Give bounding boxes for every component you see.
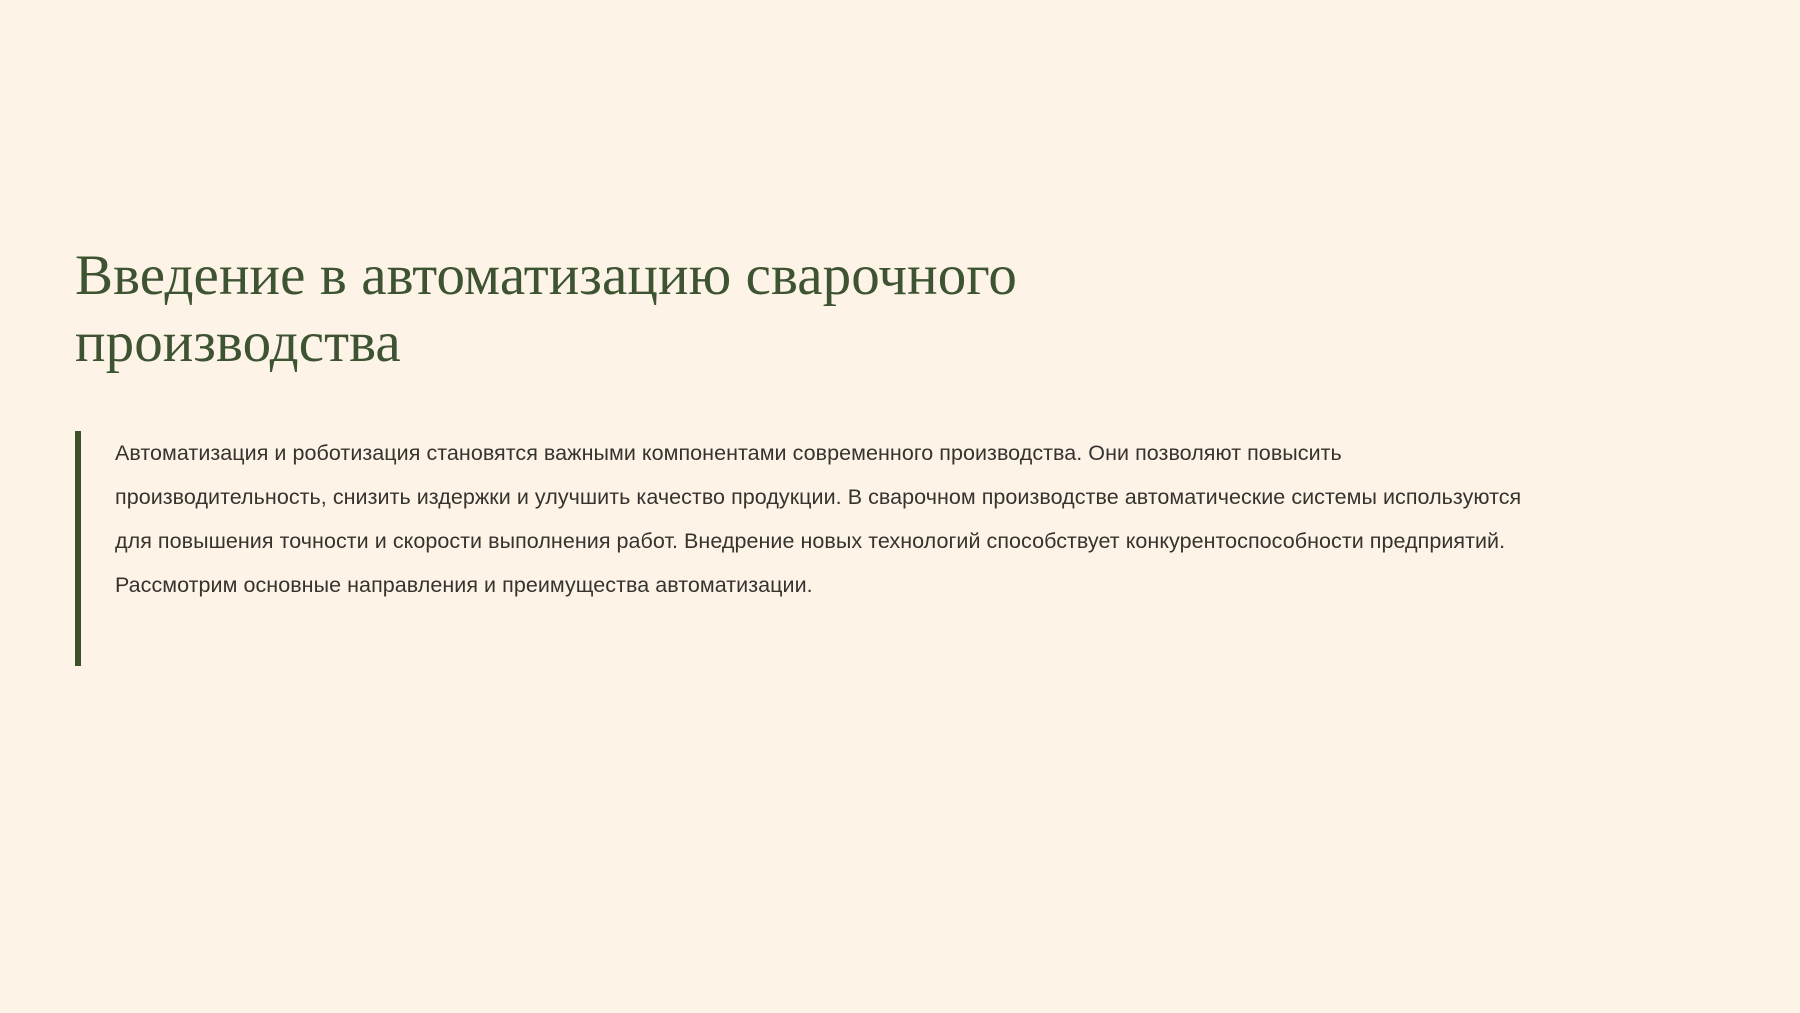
body-paragraph: Автоматизация и роботизация становятся в… [115,431,1555,607]
slide-canvas: Введение в автоматизацию сварочного прои… [0,0,1800,1013]
page-title: Введение в автоматизацию сварочного прои… [75,243,1205,376]
body-block: Автоматизация и роботизация становятся в… [75,431,1735,607]
slide-content: Введение в автоматизацию сварочного прои… [75,243,1735,607]
accent-bar [75,431,81,666]
